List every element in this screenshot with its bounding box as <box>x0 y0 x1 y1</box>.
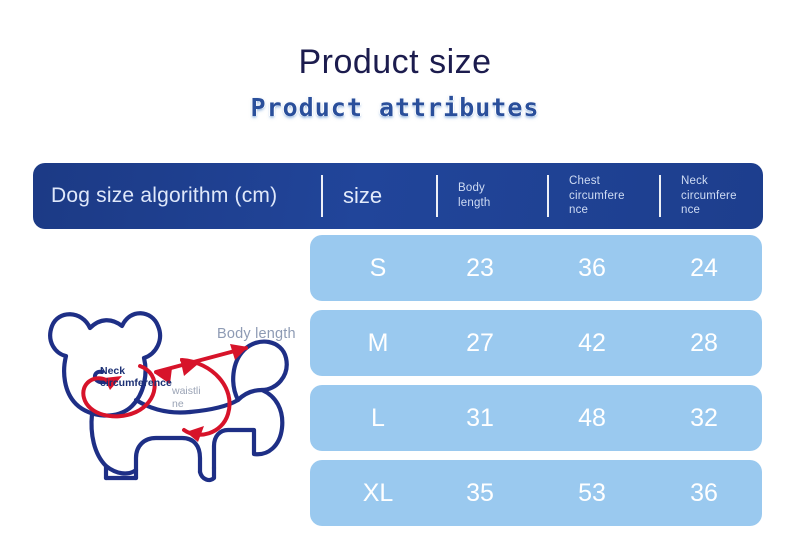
cell-size: M <box>332 310 424 376</box>
page-subtitle: Product attributes <box>0 94 790 122</box>
label-neck-line1: Neck <box>100 365 186 377</box>
label-waistline: waistli ne <box>172 385 208 411</box>
cell-chest-circumference: 36 <box>546 235 638 301</box>
header-divider-2 <box>436 175 438 217</box>
header-neck-line1: Neck <box>681 174 737 189</box>
table-row: S 23 36 24 <box>310 235 762 301</box>
cell-size: XL <box>332 460 424 526</box>
page-title: Product size <box>0 44 790 81</box>
cell-neck-circumference: 32 <box>658 385 750 451</box>
header-chest-line3: nce <box>569 203 625 218</box>
label-waist-line1: waistli <box>172 385 208 398</box>
header-neck-line2: circumfere <box>681 189 737 204</box>
header-cell-body-length: Body length <box>458 163 553 229</box>
cell-neck-circumference: 24 <box>658 235 750 301</box>
size-table-body: S 23 36 24 M 27 42 28 L 31 48 32 XL 35 5… <box>310 235 762 535</box>
header-body-line1: Body <box>458 181 491 196</box>
cell-chest-circumference: 53 <box>546 460 638 526</box>
table-row: XL 35 53 36 <box>310 460 762 526</box>
table-header-bar: Dog size algorithm (cm) size Body length… <box>33 163 763 229</box>
label-waist-line2: ne <box>172 398 208 411</box>
table-row: M 27 42 28 <box>310 310 762 376</box>
cell-body-length: 23 <box>434 235 526 301</box>
measurement-arrows <box>83 344 248 442</box>
header-cell-algorithm: Dog size algorithm (cm) <box>51 163 321 229</box>
header-divider-3 <box>547 175 549 217</box>
header-cell-neck-circumference: Neck circumfere nce <box>681 163 779 229</box>
cell-neck-circumference: 36 <box>658 460 750 526</box>
header-divider-4 <box>659 175 661 217</box>
header-chest-line2: circumfere <box>569 189 625 204</box>
header-cell-size: size <box>343 163 443 229</box>
dog-measurement-diagram: Body length Neck circumference waistli n… <box>32 288 310 488</box>
cell-body-length: 31 <box>434 385 526 451</box>
header-body-line2: length <box>458 196 491 211</box>
cell-neck-circumference: 28 <box>658 310 750 376</box>
table-row: L 31 48 32 <box>310 385 762 451</box>
cell-chest-circumference: 48 <box>546 385 638 451</box>
cell-chest-circumference: 42 <box>546 310 638 376</box>
cell-size: S <box>332 235 424 301</box>
cell-body-length: 35 <box>434 460 526 526</box>
cell-size: L <box>332 385 424 451</box>
header-neck-line3: nce <box>681 203 737 218</box>
cell-body-length: 27 <box>434 310 526 376</box>
header-cell-chest-circumference: Chest circumfere nce <box>569 163 667 229</box>
header-divider-1 <box>321 175 323 217</box>
label-body-length: Body length <box>217 326 296 342</box>
header-chest-line1: Chest <box>569 174 625 189</box>
